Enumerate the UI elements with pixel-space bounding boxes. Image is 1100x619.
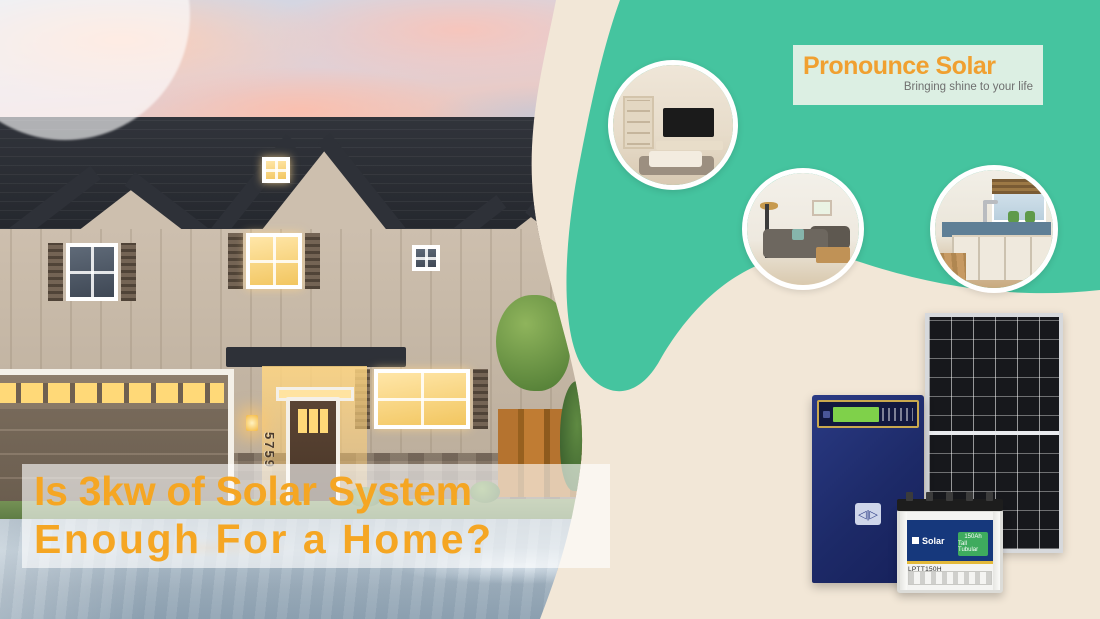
headline-line-1: Is 3kw of Solar System (34, 468, 604, 516)
battery-terminal (906, 492, 913, 501)
door-glass (298, 409, 328, 433)
window-right-large (374, 369, 470, 429)
battery-terminal (986, 492, 993, 501)
porch-light-icon (246, 415, 258, 431)
banner-stage: 5759 Pronounce Solar Bringing shine to y… (0, 0, 1100, 619)
garage-window-row (0, 383, 224, 403)
battery-rib (900, 512, 907, 590)
logo-wordmark: Pronounce Solar (803, 54, 1033, 79)
shutter (228, 233, 243, 289)
cushion (792, 229, 804, 240)
shutter (48, 243, 63, 301)
battery-terminal (946, 492, 953, 501)
television (663, 108, 713, 137)
window-center-attic (262, 157, 290, 183)
brand-logo[interactable]: Pronounce Solar Bringing shine to your l… (793, 45, 1043, 105)
window-right-attic (412, 245, 440, 271)
battery-vent-caps (908, 571, 992, 585)
window-center-gable (246, 233, 302, 289)
battery-brand: Solar (922, 536, 945, 546)
wall-picture (812, 200, 832, 216)
battery-logo-icon (912, 537, 919, 544)
coffee-table (816, 247, 850, 263)
battery-terminal (966, 492, 973, 501)
window-blind (992, 179, 1046, 193)
headline-line-2: Enough For a Home? (34, 516, 604, 564)
kitchen-scene (935, 170, 1053, 288)
cabinetry (952, 235, 1051, 280)
lamp-shade (760, 202, 778, 210)
battery-rib (993, 512, 1000, 590)
solar-panel-divider (929, 431, 1059, 435)
circle-photo-kitchen (930, 165, 1058, 293)
faucet (983, 201, 987, 225)
white-sofa (649, 151, 702, 167)
tv-console (656, 141, 723, 151)
inverter-control-panel (817, 400, 919, 428)
battery-capacity: 150Ah (964, 534, 981, 541)
battery-capacity-sub: Tall Tubular (958, 541, 988, 555)
shutter (305, 233, 320, 289)
circle-photo-living-room-tv (608, 60, 738, 190)
living-room-sofa-scene (747, 173, 859, 285)
shutter (473, 369, 488, 429)
inverter-lcd-display (833, 407, 879, 422)
battery-terminal (926, 492, 933, 501)
inverter-vent-grille (882, 408, 913, 421)
battery-capacity-badge: 150Ah Tall Tubular (958, 532, 988, 556)
circle-photo-living-room-sofa (742, 168, 864, 290)
porch-roof (226, 347, 406, 367)
battery-label: Solar 150Ah Tall Tubular (907, 520, 993, 564)
inverter-indicator-icon (823, 411, 830, 418)
young-tree (606, 299, 660, 383)
logo-tagline: Bringing shine to your life (803, 82, 1033, 94)
young-tree (496, 295, 570, 391)
shutter (121, 243, 136, 301)
page-title: Is 3kw of Solar System Enough For a Home… (34, 468, 604, 564)
window-left-gable (66, 243, 118, 301)
living-room-tv-scene (613, 65, 733, 185)
solar-battery: Solar 150Ah Tall Tubular LPTT150H (897, 509, 1003, 593)
inverter-brand-icon: ◁|▷ (855, 503, 881, 525)
shelving-unit (623, 96, 654, 149)
wood-floor (935, 253, 966, 288)
